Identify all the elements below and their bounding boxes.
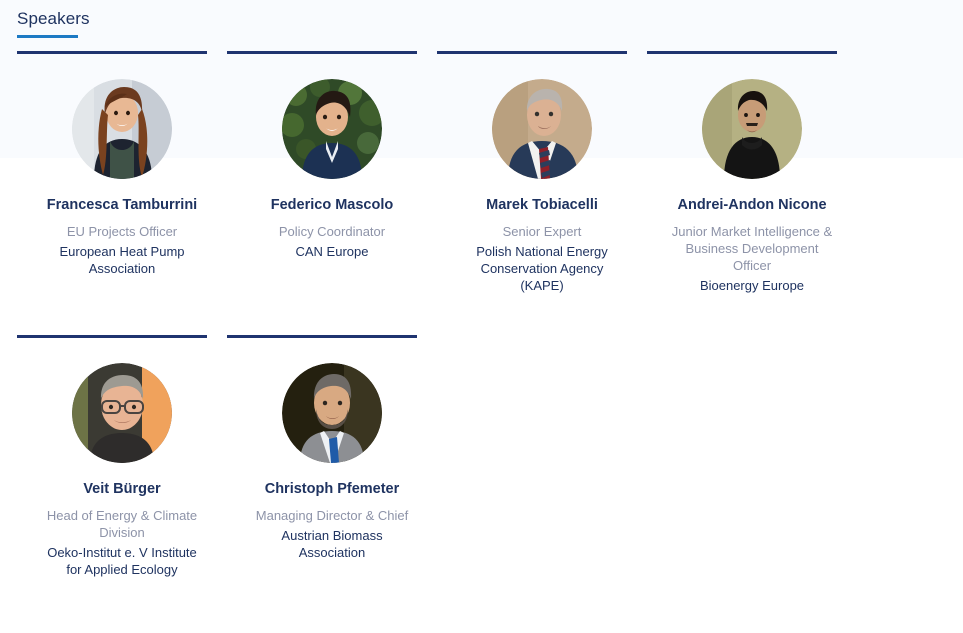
speaker-role: Managing Director & Chief <box>256 507 408 524</box>
card-top-rule <box>437 51 627 54</box>
speaker-role: EU Projects Officer <box>67 223 177 240</box>
speaker-card[interactable]: Veit Bürger Head of Energy & Climate Div… <box>17 335 227 578</box>
speaker-name: Veit Bürger <box>83 480 160 499</box>
speakers-page: Speakers <box>0 0 963 578</box>
speaker-card[interactable]: Christoph Pfemeter Managing Director & C… <box>227 335 437 578</box>
speaker-name: Andrei-Andon Nicone <box>677 196 826 215</box>
speaker-role: Head of Energy & Climate Division <box>38 507 206 541</box>
speaker-card[interactable]: Marek Tobiacelli Senior Expert Polish Na… <box>437 51 647 294</box>
card-top-rule <box>227 51 417 54</box>
speaker-role: Senior Expert <box>503 223 582 240</box>
card-top-rule <box>17 335 207 338</box>
avatar-federico-mascolo <box>282 79 382 179</box>
speaker-card[interactable]: Federico Mascolo Policy Coordinator CAN … <box>227 51 437 294</box>
avatar-francesca-tamburrini <box>72 79 172 179</box>
speakers-grid: Francesca Tamburrini EU Projects Officer… <box>0 51 963 578</box>
row-spacer <box>17 294 963 335</box>
title-accent-underline <box>17 35 78 38</box>
card-top-rule <box>17 51 207 54</box>
card-top-rule <box>227 335 417 338</box>
speaker-organisation: Polish National Energy Conservation Agen… <box>458 243 626 294</box>
speaker-organisation: European Heat Pump Association <box>38 243 206 277</box>
speaker-role: Policy Coordinator <box>279 223 385 240</box>
avatar-veit-burger <box>72 363 172 463</box>
speaker-name: Federico Mascolo <box>271 196 393 215</box>
avatar-marek-tobiacelli <box>492 79 592 179</box>
speaker-name: Marek Tobiacelli <box>486 196 598 215</box>
avatar-christoph-pfemeter <box>282 363 382 463</box>
speaker-card[interactable]: Andrei-Andon Nicone Junior Market Intell… <box>647 51 857 294</box>
speaker-organisation: Bioenergy Europe <box>700 277 804 294</box>
speaker-name: Christoph Pfemeter <box>265 480 400 499</box>
speaker-organisation: CAN Europe <box>296 243 369 260</box>
section-header: Speakers <box>0 0 963 38</box>
speaker-role: Junior Market Intelligence & Business De… <box>668 223 836 274</box>
avatar-andrei-andon-nicone <box>702 79 802 179</box>
speaker-card[interactable]: Francesca Tamburrini EU Projects Officer… <box>17 51 227 294</box>
speaker-organisation: Austrian Biomass Association <box>248 527 416 561</box>
speaker-name: Francesca Tamburrini <box>47 196 197 215</box>
page-title: Speakers <box>17 8 90 30</box>
card-top-rule <box>647 51 837 54</box>
speaker-organisation: Oeko-Institut e. V Institute for Applied… <box>38 544 206 578</box>
